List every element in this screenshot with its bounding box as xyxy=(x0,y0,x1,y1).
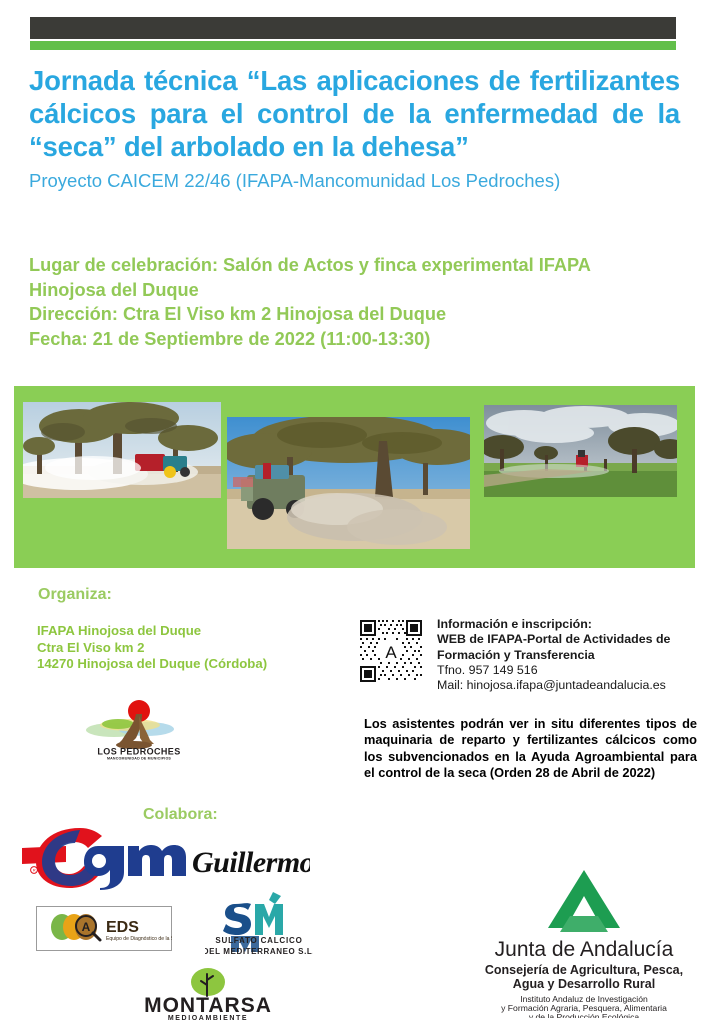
info-phone: Tfno. 957 149 516 xyxy=(437,663,699,678)
title-block: Jornada técnica “Las aplicaciones de fer… xyxy=(29,64,680,192)
qr-code[interactable]: A xyxy=(358,618,424,684)
venue-line-date: Fecha: 21 de Septiembre de 2022 (11:00-1… xyxy=(29,327,684,352)
eds-subtitle: Equipo de Diagnóstico de la Seca xyxy=(106,936,172,942)
montarsa-subtitle: MEDIOAMBIENTE xyxy=(168,1015,248,1022)
cgm-guillermo-garcia-logo: R Guillermo García xyxy=(20,824,310,890)
sm-line1: SULFATO CALCICO xyxy=(215,936,302,945)
photo-band xyxy=(14,386,695,568)
venue-line-place-cont: Hinojosa del Duque xyxy=(29,278,684,303)
organiza-city: 14270 Hinojosa del Duque (Córdoba) xyxy=(37,656,267,673)
venue-details: Lugar de celebración: Salón de Actos y f… xyxy=(29,253,684,351)
eds-logo: A EDS Equipo de Diagnóstico de la Seca xyxy=(36,906,172,951)
qr-center-letter: A xyxy=(385,643,397,662)
page-title: Jornada técnica “Las aplicaciones de fer… xyxy=(29,64,680,163)
info-heading: Información e inscripción: xyxy=(437,617,699,632)
info-block: Información e inscripción: WEB de IFAPA-… xyxy=(437,617,699,693)
svg-text:R: R xyxy=(33,867,36,872)
info-mail[interactable]: Mail: hinojosa.ifapa@juntadeandalucia.es xyxy=(437,678,699,693)
cgm-wordmark: Guillermo García xyxy=(192,846,310,879)
svg-text:LOS PEDROCHES: LOS PEDROCHES xyxy=(97,747,180,757)
project-subtitle: Proyecto CAICEM 22/46 (IFAPA-Mancomunida… xyxy=(29,169,680,192)
junta-consejeria-2: Agua y Desarrollo Rural xyxy=(513,977,655,991)
colabora-label: Colabora: xyxy=(143,806,218,824)
photo-dehesa-field-cloudy xyxy=(484,405,677,497)
organiza-entity: IFAPA Hinojosa del Duque xyxy=(37,623,267,640)
attendees-note: Los asistentes podrán ver in situ difere… xyxy=(364,716,697,782)
info-web-line2: Formación y Transferencia xyxy=(437,648,699,663)
venue-line-place: Lugar de celebración: Salón de Actos y f… xyxy=(29,253,684,278)
junta-instituto-3: y de la Producción Ecológica xyxy=(529,1012,640,1018)
photo-dehesa-tractor-center xyxy=(227,417,470,549)
venue-line-address: Dirección: Ctra El Viso km 2 Hinojosa de… xyxy=(29,302,684,327)
organiza-label: Organiza: xyxy=(38,586,112,604)
junta-title: Junta de Andalucía xyxy=(495,938,674,961)
header-bar-green xyxy=(30,41,676,50)
organiza-address: IFAPA Hinojosa del Duque Ctra El Viso km… xyxy=(37,623,267,673)
montarsa-title: MONTARSA xyxy=(144,994,272,1017)
eds-title: EDS xyxy=(106,919,139,936)
sm-line2: DEL MEDITERRANEO S.L. xyxy=(205,947,313,956)
svg-text:MANCOMUNIDAD DE MUNICIPIOS: MANCOMUNIDAD DE MUNICIPIOS xyxy=(107,757,171,761)
montarsa-logo: MONTARSA MEDIOAMBIENTE xyxy=(132,968,284,1022)
los-pedroches-logo: LOS PEDROCHES MANCOMUNIDAD DE MUNICIPIOS xyxy=(84,700,194,760)
svg-text:A: A xyxy=(82,920,91,934)
junta-de-andalucia-logo: Junta de Andalucía Consejería de Agricul… xyxy=(470,866,698,1018)
info-web-line1: WEB de IFAPA-Portal de Actividades de xyxy=(437,632,699,647)
header-bar-dark xyxy=(30,17,676,39)
organiza-street: Ctra El Viso km 2 xyxy=(37,640,267,657)
junta-consejeria-1: Consejería de Agricultura, Pesca, xyxy=(485,963,683,977)
photo-dehesa-spreader-dust xyxy=(23,402,221,498)
sulfato-calcico-mediterraneo-logo: SULFATO CALCICO DEL MEDITERRANEO S.L. xyxy=(205,890,313,962)
